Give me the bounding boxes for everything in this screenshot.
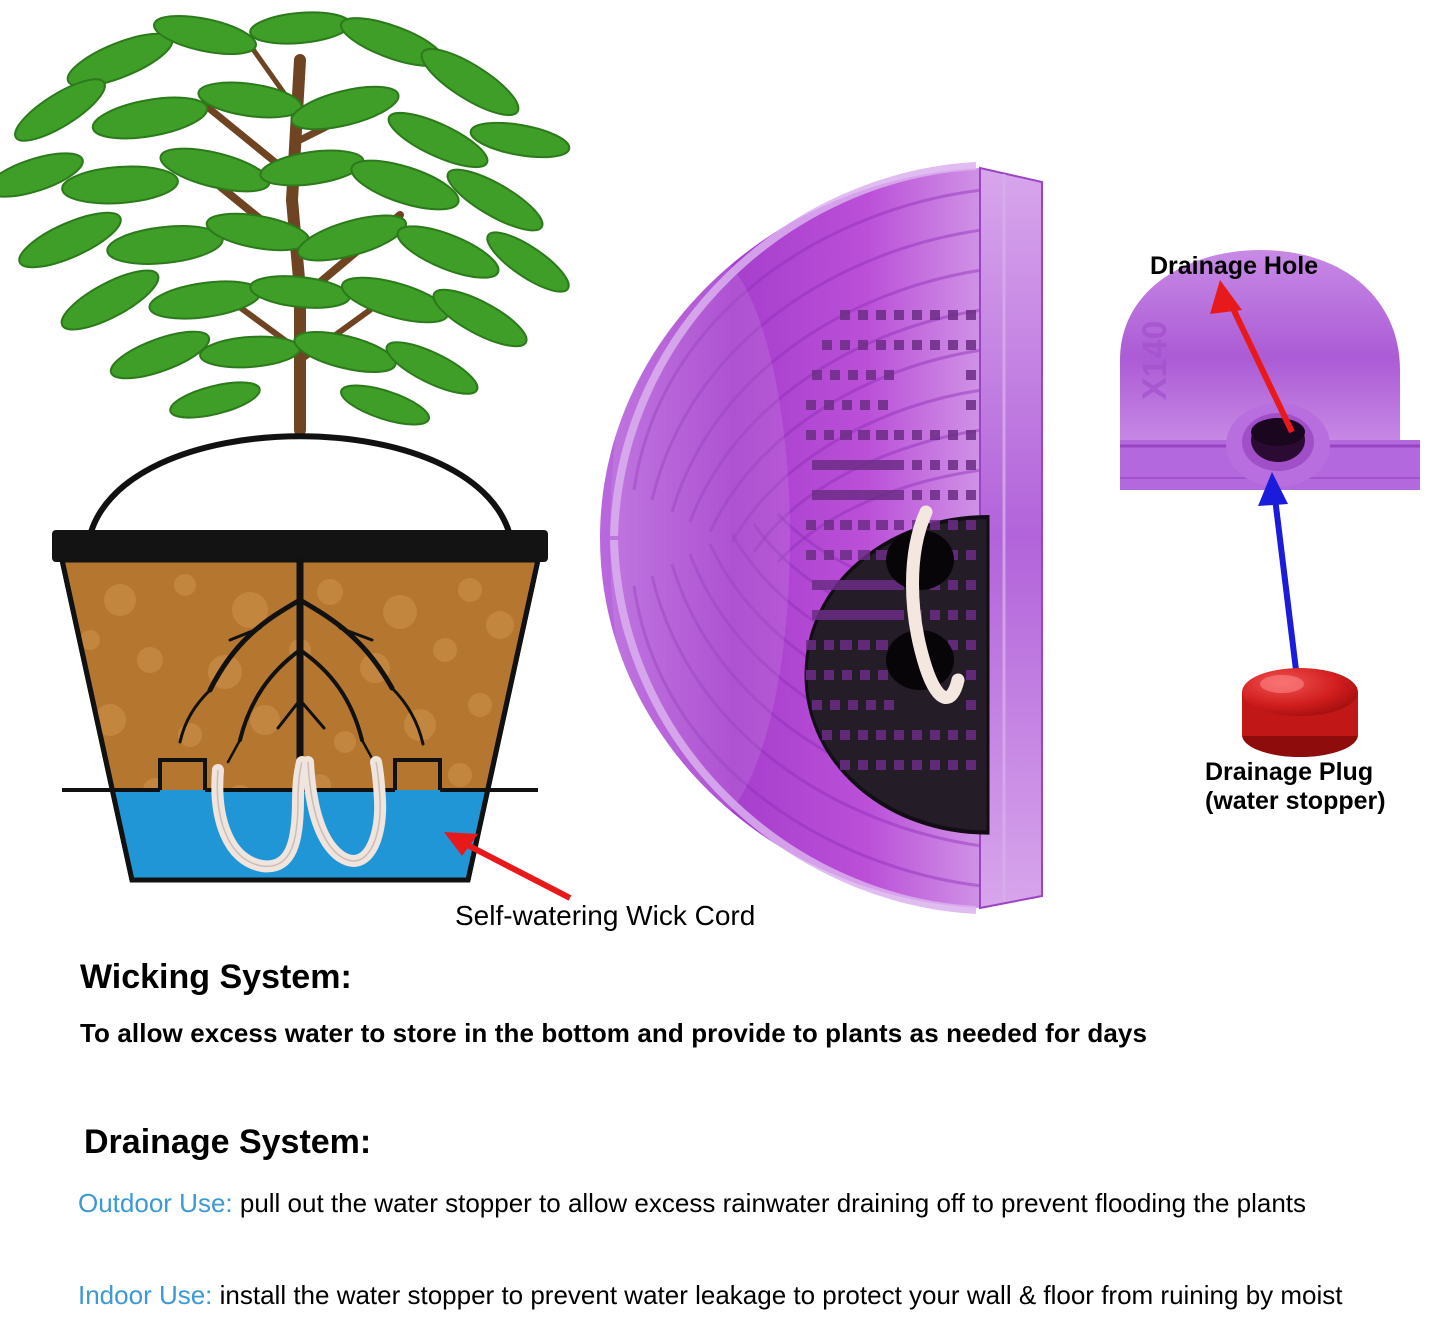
wick-cord-label: Self-watering Wick Cord [455, 900, 755, 932]
pot-handle [88, 436, 512, 545]
drainage-system-heading: Drainage System: [84, 1123, 371, 1162]
description-text-block: Wicking System: To allow excess water to… [0, 940, 1445, 1338]
drainage-plug-arrow-icon [1258, 472, 1296, 670]
wicking-system-body: To allow excess water to store in the bo… [80, 1018, 1147, 1049]
illustration-area: X140 Drainag [0, 0, 1445, 940]
outdoor-use-paragraph: Outdoor Use: pull out the water stopper … [78, 1188, 1378, 1219]
mold-code-text: X140 [1136, 321, 1174, 400]
drain-detail-diagram: X140 [1060, 240, 1445, 800]
drainage-plug [1242, 668, 1358, 757]
plant-foliage [0, 8, 576, 432]
outdoor-use-text: pull out the water stopper to allow exce… [233, 1188, 1306, 1218]
outdoor-use-label: Outdoor Use: [78, 1188, 233, 1218]
drainage-plug-label-line1: Drainage Plug [1205, 758, 1373, 786]
pot-cutaway-diagram [590, 160, 1060, 920]
drainage-plug-label: Drainage Plug (water stopper) [1205, 758, 1445, 816]
drainage-hole-label: Drainage Hole [1150, 252, 1318, 281]
indoor-use-text: install the water stopper to prevent wat… [212, 1280, 1342, 1310]
potted-plant-diagram [0, 0, 620, 940]
indoor-use-paragraph: Indoor Use: install the water stopper to… [78, 1280, 1398, 1311]
wicking-system-heading: Wicking System: [80, 958, 352, 997]
page-root: X140 Drainag [0, 0, 1445, 1338]
indoor-use-label: Indoor Use: [78, 1280, 212, 1310]
drainage-plug-label-line2: (water stopper) [1205, 787, 1386, 815]
